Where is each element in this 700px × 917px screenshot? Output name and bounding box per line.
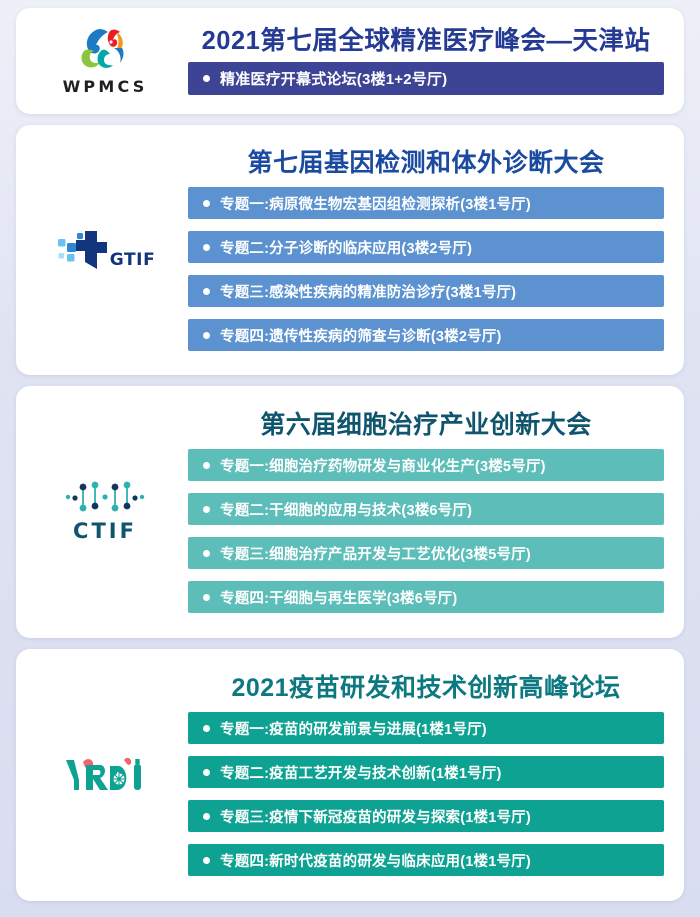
session-list-gtif: 专题一:病原微生物宏基因组检测探析(3楼1号厅) 专题二:分子诊断的临床应用(3… bbox=[188, 187, 664, 351]
gtif-mark-icon bbox=[55, 229, 109, 271]
session-label: 专题三:感染性疾病的精准防治诊疗(3楼1号厅) bbox=[220, 281, 516, 302]
session-bar[interactable]: 专题三:细胞治疗产品开发与工艺优化(3楼5号厅) bbox=[188, 537, 664, 569]
session-bar[interactable]: 专题一:细胞治疗药物研发与商业化生产(3楼5号厅) bbox=[188, 449, 664, 481]
card-title-gtif: 第七届基因检测和体外诊断大会 bbox=[188, 149, 664, 177]
session-label: 专题三:细胞治疗产品开发与工艺优化(3楼5号厅) bbox=[220, 543, 531, 564]
card-title-wpmcs: 2021第七届全球精准医疗峰会—天津站 bbox=[188, 27, 664, 56]
session-bar[interactable]: 专题四:遗传性疾病的筛查与诊断(3楼2号厅) bbox=[188, 319, 664, 351]
content-column-ctif: 第六届细胞治疗产业创新大会 专题一:细胞治疗药物研发与商业化生产(3楼5号厅) … bbox=[188, 411, 664, 613]
bullet-icon bbox=[203, 200, 210, 207]
session-bar[interactable]: 专题三:感染性疾病的精准防治诊疗(3楼1号厅) bbox=[188, 275, 664, 307]
session-list-vrdi: 专题一:疫苗的研发前景与进展(1楼1号厅) 专题二:疫苗工艺开发与技术创新(1楼… bbox=[188, 712, 664, 876]
session-label: 专题二:干细胞的应用与技术(3楼6号厅) bbox=[220, 499, 472, 520]
session-label: 专题二:分子诊断的临床应用(3楼2号厅) bbox=[220, 237, 472, 258]
session-label: 专题四:遗传性疾病的筛查与诊断(3楼2号厅) bbox=[220, 325, 502, 346]
session-label: 专题一:病原微生物宏基因组检测探析(3楼1号厅) bbox=[220, 193, 531, 214]
session-bar[interactable]: 专题四:干细胞与再生医学(3楼6号厅) bbox=[188, 581, 664, 613]
ctif-logo: CTIF bbox=[65, 481, 145, 543]
bullet-icon bbox=[203, 75, 210, 82]
gtif-logo: GTIF bbox=[55, 229, 156, 271]
session-bar[interactable]: 专题二:疫苗工艺开发与技术创新(1楼1号厅) bbox=[188, 756, 664, 788]
bullet-icon bbox=[203, 594, 210, 601]
logo-column-ctif: CTIF bbox=[22, 481, 188, 543]
session-label: 精准医疗开幕式论坛(3楼1+2号厅) bbox=[220, 68, 447, 89]
content-column-gtif: 第七届基因检测和体外诊断大会 专题一:病原微生物宏基因组检测探析(3楼1号厅) … bbox=[188, 149, 664, 351]
session-label: 专题一:疫苗的研发前景与进展(1楼1号厅) bbox=[220, 718, 487, 739]
logo-column-wpmcs: WPMCS bbox=[22, 26, 188, 96]
logo-column-vrdi bbox=[22, 754, 188, 796]
session-list-ctif: 专题一:细胞治疗药物研发与商业化生产(3楼5号厅) 专题二:干细胞的应用与技术(… bbox=[188, 449, 664, 613]
session-bar[interactable]: 精准医疗开幕式论坛(3楼1+2号厅) bbox=[188, 62, 664, 95]
conference-card-wpmcs[interactable]: WPMCS 2021第七届全球精准医疗峰会—天津站 精准医疗开幕式论坛(3楼1+… bbox=[16, 8, 684, 114]
bullet-icon bbox=[203, 244, 210, 251]
ctif-mark-icon bbox=[65, 481, 145, 515]
bullet-icon bbox=[203, 725, 210, 732]
session-label: 专题四:干细胞与再生医学(3楼6号厅) bbox=[220, 587, 457, 608]
card-title-vrdi: 2021疫苗研发和技术创新高峰论坛 bbox=[188, 674, 664, 702]
bullet-icon bbox=[203, 288, 210, 295]
session-bar[interactable]: 专题四:新时代疫苗的研发与临床应用(1楼1号厅) bbox=[188, 844, 664, 876]
session-label: 专题一:细胞治疗药物研发与商业化生产(3楼5号厅) bbox=[220, 455, 546, 476]
logo-column-gtif: GTIF bbox=[22, 229, 188, 271]
session-label: 专题四:新时代疫苗的研发与临床应用(1楼1号厅) bbox=[220, 850, 531, 871]
content-column-vrdi: 2021疫苗研发和技术创新高峰论坛 专题一:疫苗的研发前景与进展(1楼1号厅) … bbox=[188, 674, 664, 876]
wpmcs-wordmark: WPMCS bbox=[63, 77, 148, 96]
conference-agenda-page: WPMCS 2021第七届全球精准医疗峰会—天津站 精准医疗开幕式论坛(3楼1+… bbox=[0, 0, 700, 917]
conference-card-vrdi[interactable]: 2021疫苗研发和技术创新高峰论坛 专题一:疫苗的研发前景与进展(1楼1号厅) … bbox=[16, 649, 684, 901]
bullet-icon bbox=[203, 813, 210, 820]
vrdi-mark-icon bbox=[62, 754, 148, 796]
bullet-icon bbox=[203, 332, 210, 339]
wpmcs-mark-icon bbox=[74, 26, 136, 74]
session-bar[interactable]: 专题一:病原微生物宏基因组检测探析(3楼1号厅) bbox=[188, 187, 664, 219]
session-bar[interactable]: 专题三:疫情下新冠疫苗的研发与探索(1楼1号厅) bbox=[188, 800, 664, 832]
bullet-icon bbox=[203, 462, 210, 469]
conference-card-ctif[interactable]: CTIF 第六届细胞治疗产业创新大会 专题一:细胞治疗药物研发与商业化生产(3楼… bbox=[16, 386, 684, 638]
wpmcs-logo: WPMCS bbox=[63, 26, 148, 96]
session-label: 专题二:疫苗工艺开发与技术创新(1楼1号厅) bbox=[220, 762, 502, 783]
bullet-icon bbox=[203, 550, 210, 557]
session-label: 专题三:疫情下新冠疫苗的研发与探索(1楼1号厅) bbox=[220, 806, 531, 827]
bullet-icon bbox=[203, 769, 210, 776]
content-column-wpmcs: 2021第七届全球精准医疗峰会—天津站 精准医疗开幕式论坛(3楼1+2号厅) bbox=[188, 27, 664, 96]
session-bar[interactable]: 专题一:疫苗的研发前景与进展(1楼1号厅) bbox=[188, 712, 664, 744]
ctif-wordmark: CTIF bbox=[73, 519, 137, 543]
session-bar[interactable]: 专题二:分子诊断的临床应用(3楼2号厅) bbox=[188, 231, 664, 263]
card-title-ctif: 第六届细胞治疗产业创新大会 bbox=[188, 411, 664, 439]
session-bar[interactable]: 专题二:干细胞的应用与技术(3楼6号厅) bbox=[188, 493, 664, 525]
gtif-wordmark: GTIF bbox=[110, 250, 156, 270]
session-list-wpmcs: 精准医疗开幕式论坛(3楼1+2号厅) bbox=[188, 62, 664, 95]
conference-card-gtif[interactable]: GTIF 第七届基因检测和体外诊断大会 专题一:病原微生物宏基因组检测探析(3楼… bbox=[16, 125, 684, 375]
vrdi-logo bbox=[62, 754, 148, 796]
bullet-icon bbox=[203, 857, 210, 864]
bullet-icon bbox=[203, 506, 210, 513]
